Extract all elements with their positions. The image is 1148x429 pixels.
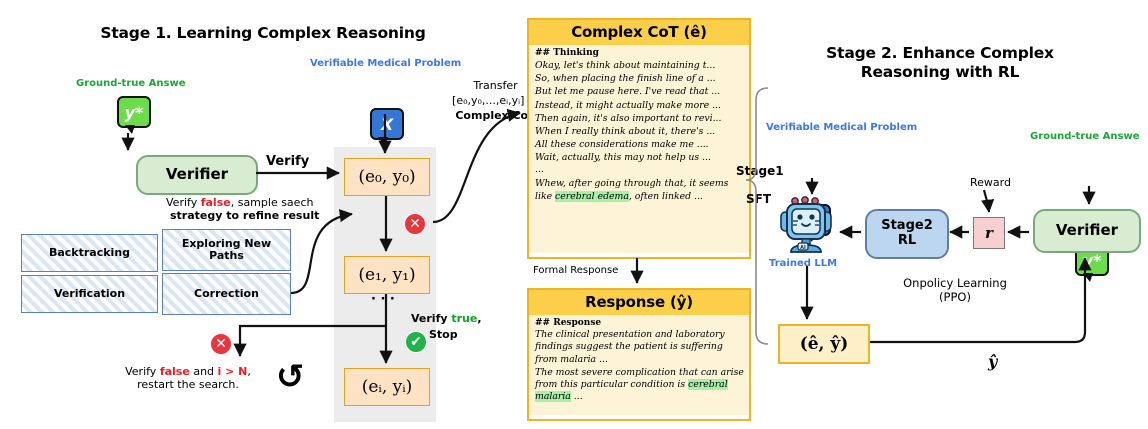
pair-ellipsis: · · · xyxy=(371,292,395,307)
strategy-box-exploring-new-paths[interactable]: Exploring New Paths xyxy=(162,229,291,271)
stage2-verifier-box[interactable]: Verifier xyxy=(1033,209,1141,253)
pair-box-1: (e₁, y₁) xyxy=(344,256,430,294)
restart-icon: ↻ xyxy=(276,360,305,394)
cot-line: But let me pause here. I've read that ..… xyxy=(535,85,744,98)
response-para-2: The most severe complication that can ar… xyxy=(535,367,744,404)
verify-true-word: true xyxy=(451,312,477,325)
cross-icon-restart: ✕ xyxy=(210,333,232,355)
response-para-1: The clinical presentation and laboratory… xyxy=(535,329,744,366)
response-card: Response (ŷ) ## Response The clinical pr… xyxy=(527,288,751,421)
complex-cot-title: Complex CoT (ê) xyxy=(529,20,749,45)
stage1-sft-bracket-line1: Stage1 xyxy=(736,164,784,178)
reward-label: Reward xyxy=(970,176,1011,189)
verify-false-post: , sample saech xyxy=(231,196,314,209)
cot-final-pre: like xyxy=(535,191,555,202)
pair-box-i: (eᵢ, yᵢ) xyxy=(344,368,430,406)
stage1-title: Stage 1. Learning Complex Reasoning xyxy=(78,24,448,43)
strategy-box-backtracking[interactable]: Backtracking xyxy=(21,234,158,272)
stage1-verifier-box[interactable]: Verifier xyxy=(136,155,258,195)
restart-caption: Verify false and i > N, restart the sear… xyxy=(98,365,278,391)
stage2-problem-label: Verifiable Medical Problem xyxy=(766,122,917,133)
restart-false: false xyxy=(160,365,190,378)
cot-highlight: cerebral edema xyxy=(555,191,629,202)
trained-llm-label: Trained LLM xyxy=(769,258,837,269)
verify-true-caption: Verify true, Stop xyxy=(411,312,482,341)
cot-line: All these considerations make me .... xyxy=(535,138,744,151)
cot-line: Then again, it's also important to revi.… xyxy=(535,112,744,125)
stage2-rl-box[interactable]: Stage2 RL xyxy=(865,209,949,259)
stage2-title-line2: Reasoning with RL xyxy=(800,63,1080,82)
verify-false-pre: Verify xyxy=(166,196,197,209)
onpolicy-line1: Onpolicy Learning xyxy=(875,276,1035,290)
reward-box: r xyxy=(973,217,1005,249)
complex-cot-body: ## Thinking Okay, let's think about main… xyxy=(529,45,749,253)
verify-false-word: false xyxy=(201,196,231,209)
complex-cot-heading: ## Thinking xyxy=(535,48,744,58)
verify-false-caption: Verify false, sample saech strategy to r… xyxy=(166,196,319,222)
svg-text:AI: AI xyxy=(800,245,806,251)
cot-line: So, when placing the finish line of a ..… xyxy=(535,72,744,85)
stage2-ground-truth-label: Ground-true Answe xyxy=(1030,131,1139,142)
cot-line: Wait, actually, this may not help us ... xyxy=(535,151,744,164)
pair-box-0: (e₀, y₀) xyxy=(344,158,430,196)
stage2-title-line1: Stage 2. Enhance Complex xyxy=(800,44,1080,63)
cot-final-post: , often linked ... xyxy=(629,191,703,202)
stage1-problem-bubble: X xyxy=(370,108,404,140)
trained-llm-robot-icon: AI xyxy=(778,196,834,258)
cot-final-line2: like cerebral edema, often linked ... xyxy=(535,190,744,203)
cot-line: When I really think about it, there's ..… xyxy=(535,125,744,138)
stage1-sft-bracket-line2: SFT xyxy=(746,192,771,206)
restart-cond: i > N xyxy=(218,365,248,378)
stage2-output-pair-box: (ê, ŷ) xyxy=(778,324,870,364)
yhat-label: ŷ xyxy=(988,352,997,371)
cot-line: Okay, let's think about maintaining t... xyxy=(535,59,744,72)
verify-false-line2: strategy to refine result xyxy=(170,209,319,222)
onpolicy-learning-caption: Onpolicy Learning (PPO) xyxy=(875,276,1035,304)
response-title: Response (ŷ) xyxy=(529,290,749,315)
formal-response-label: Formal Response xyxy=(533,265,618,276)
response-para2-post: ... xyxy=(571,391,583,402)
restart-pre: Verify xyxy=(125,365,156,378)
restart-post: , xyxy=(247,365,251,378)
stage2-title: Stage 2. Enhance Complex Reasoning with … xyxy=(800,44,1080,83)
verify-true-post: , xyxy=(477,312,481,325)
onpolicy-line2: (PPO) xyxy=(875,290,1035,304)
cot-line: Instead, it might actually make more ... xyxy=(535,99,744,112)
stage2-rl-line1: Stage2 xyxy=(881,219,933,234)
verify-edge-label: Verify xyxy=(266,154,309,169)
cot-final-line1: Whew, after going through that, it seems xyxy=(535,177,744,190)
stage1-ground-truth-label: Ground-true Answe xyxy=(76,78,185,89)
stop-label: Stop xyxy=(429,328,482,341)
stage1-ground-truth-bubble: y* xyxy=(117,96,151,128)
strategy-box-correction[interactable]: Correction xyxy=(162,273,291,315)
response-body: ## Response The clinical presentation an… xyxy=(529,315,749,415)
verify-true-pre: Verify xyxy=(411,312,448,325)
stage1-problem-label: Verifiable Medical Problem xyxy=(310,58,461,69)
cot-line: ... xyxy=(535,165,744,174)
response-heading: ## Response xyxy=(535,318,744,328)
stage2-rl-line2: RL xyxy=(898,234,916,249)
complex-cot-card: Complex CoT (ê) ## Thinking Okay, let's … xyxy=(527,18,751,259)
restart-mid: and xyxy=(190,365,218,378)
cross-icon-loop: ✕ xyxy=(404,213,426,235)
strategy-box-verification[interactable]: Verification xyxy=(21,275,158,313)
restart-line2: restart the search. xyxy=(98,378,278,391)
